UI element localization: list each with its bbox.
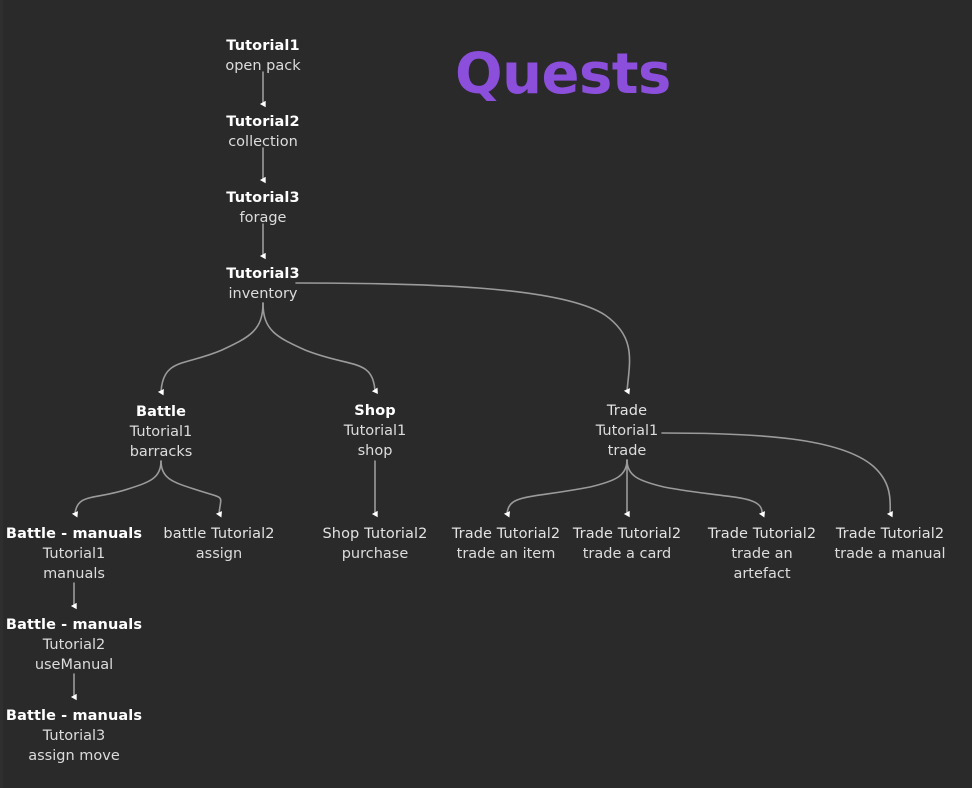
diagram-node-battle_manuals_2[interactable]: Battle - manualsTutorial2useManual: [0, 615, 169, 675]
edge-battle-to-battle_assign: [161, 461, 221, 514]
node-subtitle: inventory: [168, 284, 358, 304]
node-subtitle: artefact: [667, 564, 857, 584]
edge-tutorial3_inventory-to-battle: [161, 303, 263, 392]
node-title: Battle - manuals: [0, 615, 169, 635]
node-title: Tutorial2: [168, 112, 358, 132]
node-title: Battle - manuals: [0, 706, 169, 726]
node-title: Tutorial3: [168, 188, 358, 208]
diagram-node-tutorial3_forage[interactable]: Tutorial3forage: [168, 188, 358, 228]
diagram-canvas: Tutorial1open packTutorial2collectionTut…: [0, 0, 972, 788]
node-title: Trade Tutorial2: [795, 524, 972, 544]
node-subtitle: barracks: [66, 442, 256, 462]
diagram-node-tutorial2[interactable]: Tutorial2collection: [168, 112, 358, 152]
node-subtitle: manuals: [0, 564, 169, 584]
node-subtitle: trade: [532, 441, 722, 461]
diagram-node-battle_manuals_3[interactable]: Battle - manualsTutorial3assign move: [0, 706, 169, 766]
node-title: Trade: [532, 401, 722, 421]
edge-trade-to-trade_item: [507, 460, 627, 514]
diagram-node-tutorial1[interactable]: Tutorial1open pack: [168, 36, 358, 76]
page-title: Quests: [455, 42, 671, 107]
edge-tutorial3_inventory-to-shop: [263, 303, 375, 391]
node-title: Shop: [280, 401, 470, 421]
diagram-node-trade_manual[interactable]: Trade Tutorial2trade a manual: [795, 524, 972, 564]
edge-battle-to-battle_manuals_1: [75, 461, 161, 514]
node-subtitle: open pack: [168, 56, 358, 76]
node-subtitle: collection: [168, 132, 358, 152]
node-subtitle: Tutorial1: [532, 421, 722, 441]
edge-trade-to-trade_artefact: [627, 460, 762, 514]
diagram-node-shop[interactable]: ShopTutorial1shop: [280, 401, 470, 461]
diagram-node-tutorial3_inventory[interactable]: Tutorial3inventory: [168, 264, 358, 304]
node-subtitle: trade a manual: [795, 544, 972, 564]
node-subtitle: Tutorial2: [0, 635, 169, 655]
node-subtitle: Tutorial1: [280, 421, 470, 441]
node-title: Battle: [66, 402, 256, 422]
node-subtitle: Tutorial1: [66, 422, 256, 442]
node-subtitle: assign move: [0, 746, 169, 766]
node-subtitle: forage: [168, 208, 358, 228]
node-title: Tutorial3: [168, 264, 358, 284]
diagram-node-battle[interactable]: BattleTutorial1barracks: [66, 402, 256, 462]
node-subtitle: Tutorial3: [0, 726, 169, 746]
node-subtitle: shop: [280, 441, 470, 461]
node-title: Tutorial1: [168, 36, 358, 56]
diagram-node-trade[interactable]: TradeTutorial1trade: [532, 401, 722, 461]
node-subtitle: useManual: [0, 655, 169, 675]
